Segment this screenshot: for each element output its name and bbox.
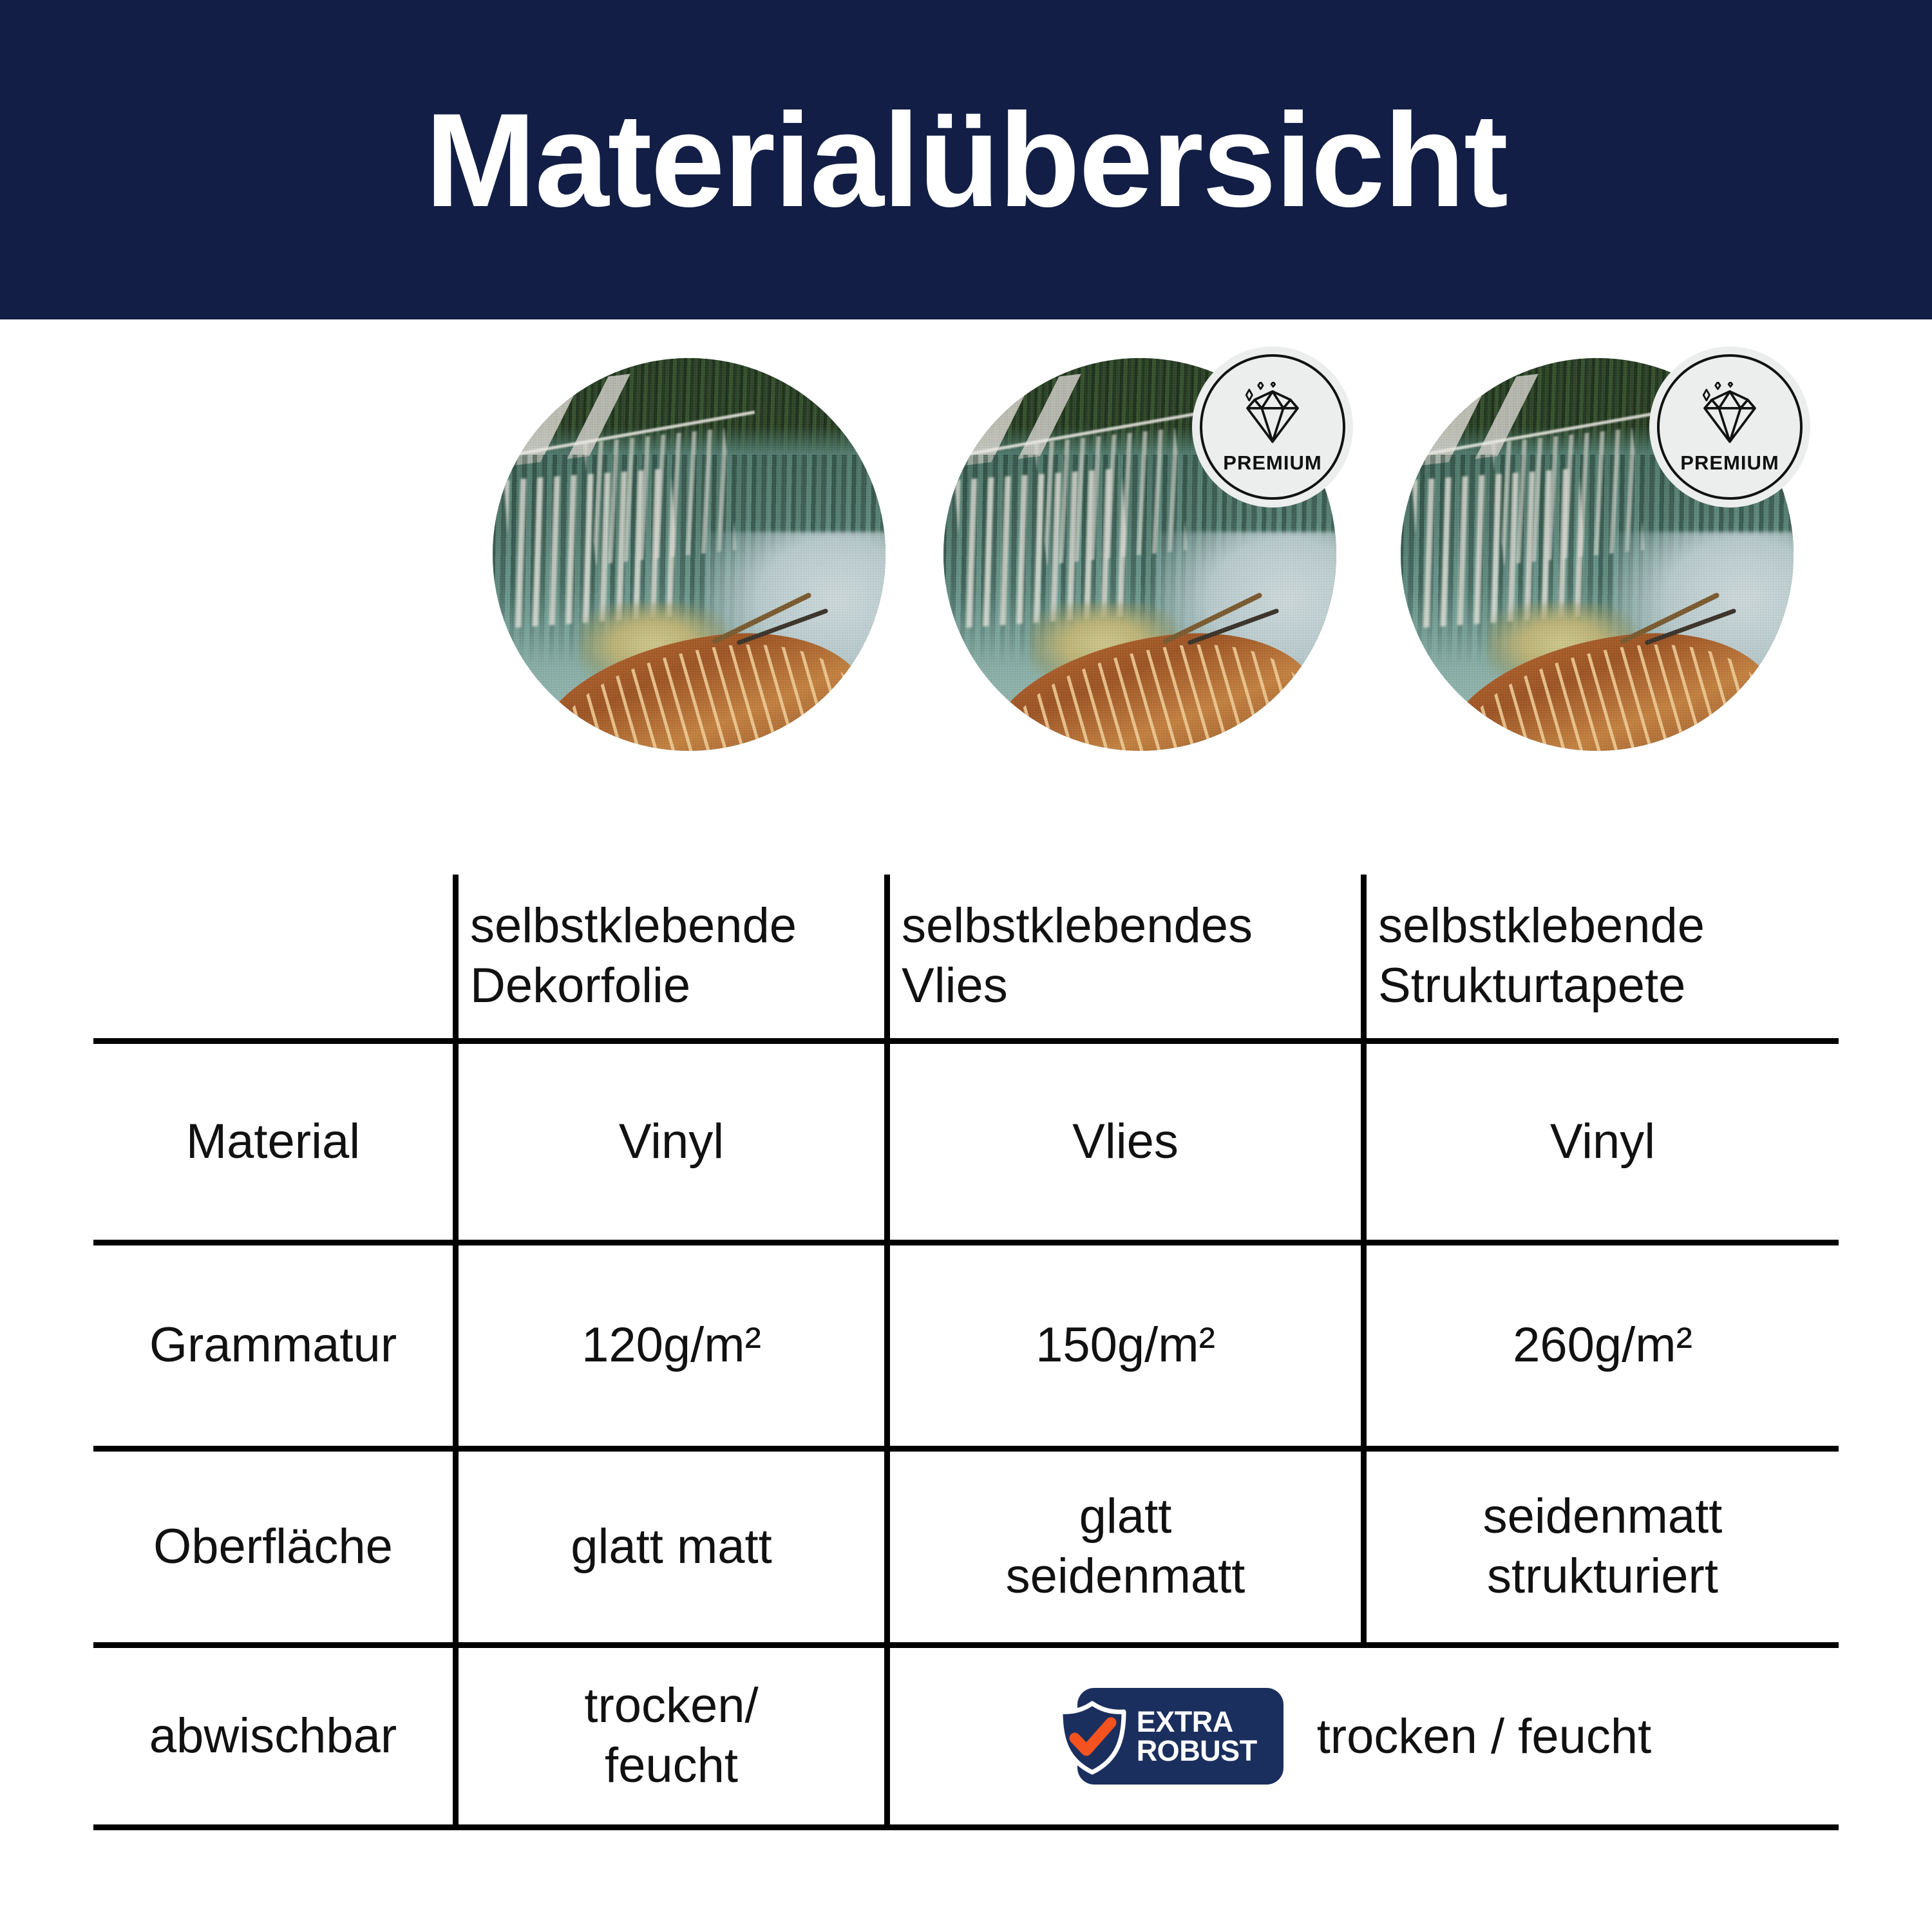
extra-robust-badge: EXTRA ROBUST (1077, 1688, 1283, 1785)
table-hline-1 (93, 1240, 1839, 1245)
lake-boat-photo (493, 358, 885, 751)
table-cell-oberflaeche-dekorfolie: glatt matt (459, 1452, 884, 1642)
product-preview-1[interactable] (493, 358, 885, 751)
diamond-icon (1236, 382, 1309, 449)
material-comparison-table: selbstklebende Dekorfolie selbstklebende… (93, 831, 1839, 1826)
table-header-dekorfolie: selbstklebende Dekorfolie (459, 875, 884, 1038)
table-hline-bottom (93, 1824, 1839, 1830)
table-cell-material-vlies: Vlies (890, 1044, 1361, 1240)
premium-badge: PREMIUM (1657, 354, 1803, 500)
table-cell-material-strukturtapete: Vinyl (1367, 1044, 1839, 1240)
product-preview-row: PREMIUM (0, 358, 1932, 755)
cell-text: glatt matt (571, 1517, 772, 1577)
premium-badge: PREMIUM (1200, 354, 1345, 500)
shield-check-icon (1054, 1700, 1130, 1776)
table-row-label-grammatur: Grammatur (93, 1245, 453, 1446)
page-header-banner: Materialübersicht (0, 0, 1932, 319)
cell-text: seidenmatt strukturiert (1483, 1487, 1723, 1606)
cell-text: glatt seidenmatt (1006, 1487, 1245, 1606)
page-title: Materialübersicht (425, 93, 1507, 227)
product-preview-3[interactable]: PREMIUM (1401, 358, 1794, 751)
extra-robust-text: EXTRA ROBUST (1137, 1707, 1257, 1765)
surface-texture (493, 358, 885, 751)
table-header-blank (93, 875, 453, 1038)
diamond-icon (1694, 382, 1766, 449)
badge-line-2: ROBUST (1137, 1736, 1257, 1765)
table-cell-oberflaeche-strukturtapete: seidenmatt strukturiert (1367, 1452, 1839, 1642)
premium-badge-label: PREMIUM (1223, 451, 1321, 475)
table-vline-1 (453, 875, 459, 1824)
table-cell-grammatur-vlies: 150g/m² (890, 1245, 1361, 1446)
product-preview-2[interactable]: PREMIUM (943, 358, 1336, 751)
table-row-label-material: Material (93, 1044, 453, 1240)
table-cell-grammatur-strukturtapete: 260g/m² (1367, 1245, 1839, 1446)
material-overview-page: Materialübersicht (0, 0, 1932, 1932)
table-vline-3 (1361, 875, 1367, 1642)
table-cell-abwischbar-merged: EXTRA ROBUST trocken / feucht (890, 1648, 1839, 1824)
table-header-strukturtapete: selbstklebende Strukturtapete (1367, 875, 1839, 1038)
table-row-label-oberflaeche: Oberfläche (93, 1452, 453, 1642)
table-vline-2 (884, 875, 890, 1824)
cell-text: trocken/ feucht (584, 1676, 758, 1795)
table-cell-material-dekorfolie: Vinyl (459, 1044, 884, 1240)
table-cell-abwischbar-value: trocken / feucht (1317, 1709, 1652, 1765)
table-row-label-abwischbar: abwischbar (93, 1648, 453, 1824)
table-hline-2 (93, 1446, 1839, 1452)
table-header-vlies: selbstklebendes Vlies (890, 875, 1361, 1038)
table-cell-oberflaeche-vlies: glatt seidenmatt (890, 1452, 1361, 1642)
table-cell-grammatur-dekorfolie: 120g/m² (459, 1245, 884, 1446)
badge-line-1: EXTRA (1137, 1707, 1257, 1736)
table-hline-header (93, 1038, 1839, 1044)
table-hline-3 (93, 1642, 1839, 1648)
premium-badge-label: PREMIUM (1680, 451, 1779, 475)
table-cell-abwischbar-dekorfolie: trocken/ feucht (459, 1648, 884, 1824)
